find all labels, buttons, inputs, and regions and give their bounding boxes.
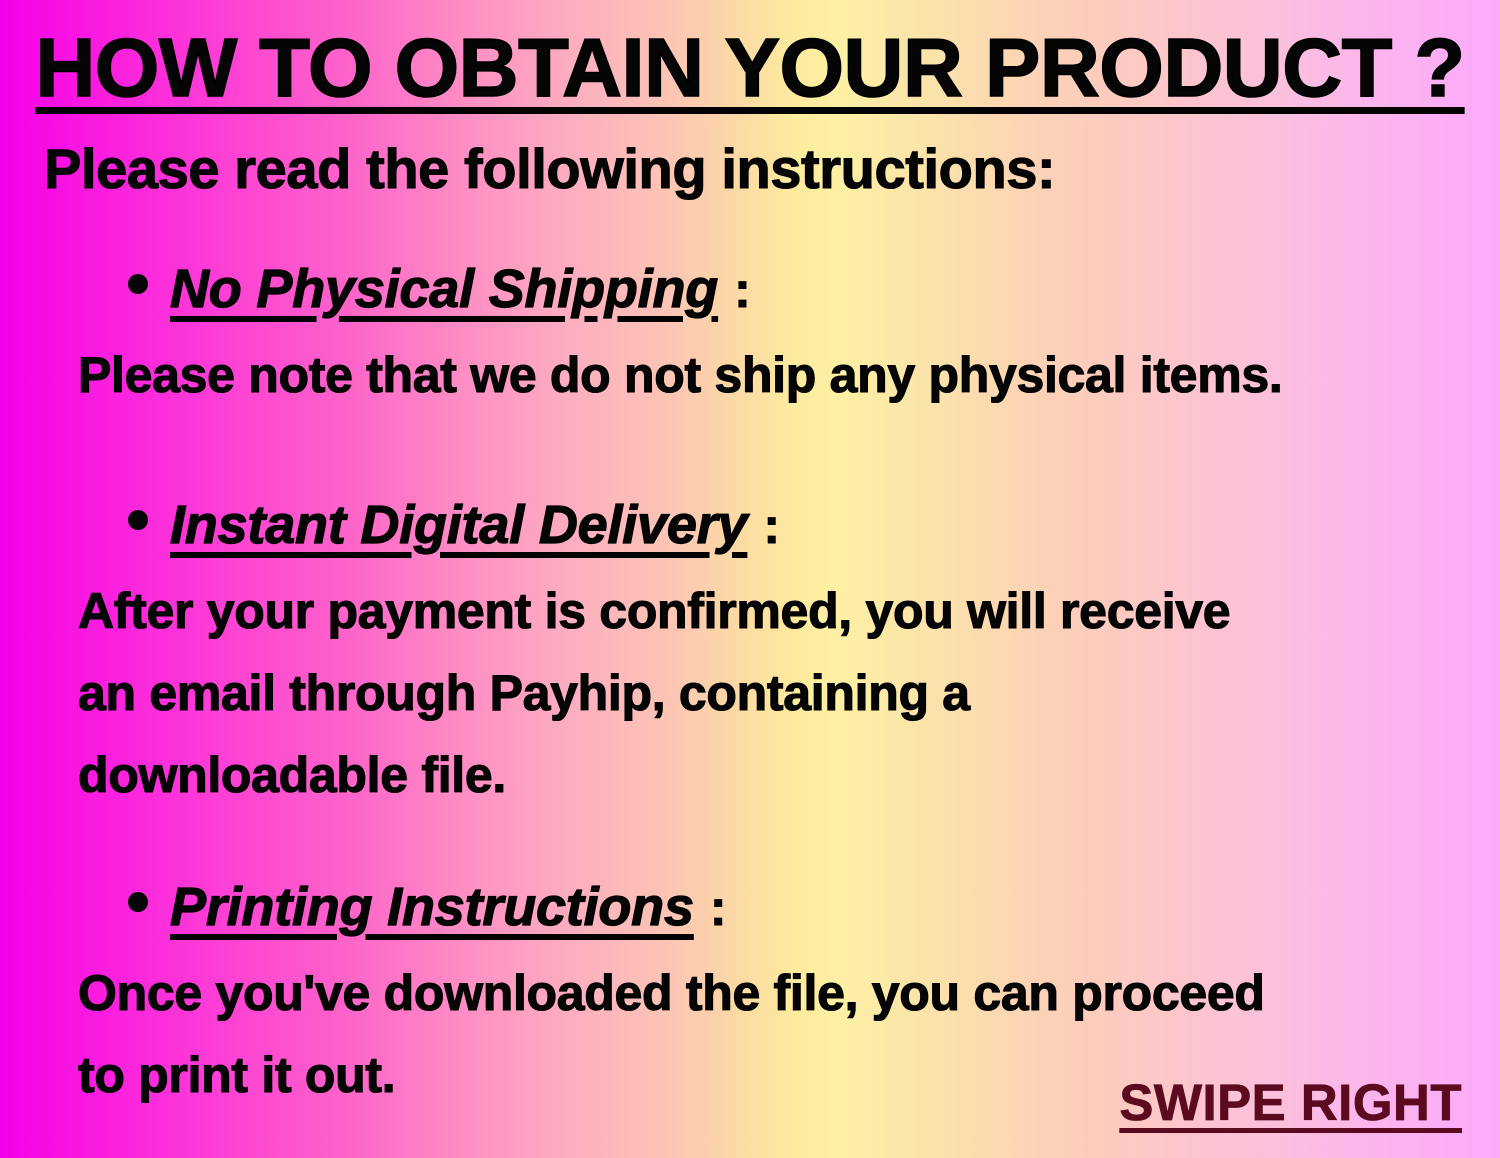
section-heading-no-physical-shipping: No Physical Shipping : xyxy=(128,258,751,320)
section-body-instant-digital-delivery: After your payment is confirmed, you wil… xyxy=(78,570,1230,816)
body-line: After your payment is confirmed, you wil… xyxy=(78,570,1230,652)
section-heading-label: No Physical Shipping xyxy=(170,258,718,320)
poster-canvas: HOW TO OBTAIN YOUR PRODUCT ? Please read… xyxy=(0,0,1500,1158)
section-heading-instant-digital-delivery: Instant Digital Delivery : xyxy=(128,494,780,556)
body-line: Please note that we do not ship any phys… xyxy=(78,334,1282,416)
body-line: Once you've downloaded the file, you can… xyxy=(78,952,1265,1034)
section-heading-label: Printing Instructions xyxy=(170,876,694,938)
section-body-no-physical-shipping: Please note that we do not ship any phys… xyxy=(78,334,1282,416)
bullet-dot-icon xyxy=(128,510,148,530)
swipe-right-label[interactable]: SWIPE RIGHT xyxy=(1119,1073,1462,1132)
page-title-text: HOW TO OBTAIN YOUR PRODUCT ? xyxy=(35,21,1464,114)
section-heading-printing-instructions: Printing Instructions : xyxy=(128,876,726,938)
section-heading-colon: : xyxy=(763,497,780,555)
lead-instruction: Please read the following instructions: xyxy=(44,136,1055,201)
page-title: HOW TO OBTAIN YOUR PRODUCT ? xyxy=(0,24,1500,111)
body-line: to print it out. xyxy=(78,1034,1265,1116)
bullet-dot-icon xyxy=(128,274,148,294)
body-line: downloadable file. xyxy=(78,734,1230,816)
bullet-dot-icon xyxy=(128,892,148,912)
section-heading-label: Instant Digital Delivery xyxy=(170,494,747,556)
section-heading-colon: : xyxy=(710,879,727,937)
section-heading-colon: : xyxy=(734,261,751,319)
section-body-printing-instructions: Once you've downloaded the file, you can… xyxy=(78,952,1265,1116)
body-line: an email through Payhip, containing a xyxy=(78,652,1230,734)
